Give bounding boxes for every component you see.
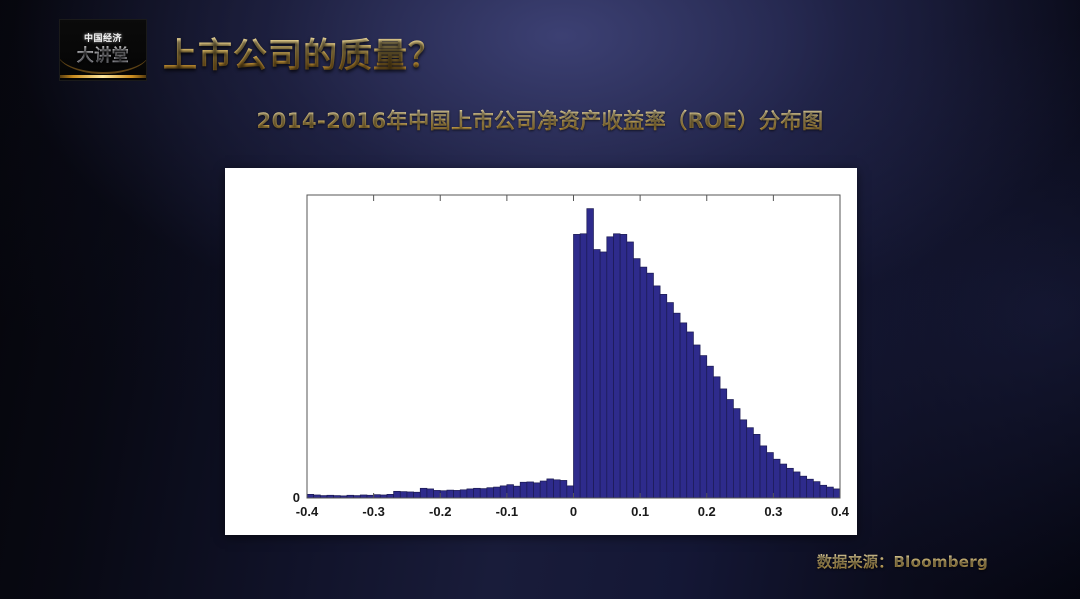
x-tick-label: -0.1 <box>496 504 518 519</box>
slide-headline: 上市公司的质量？ <box>163 28 443 77</box>
histogram-bar <box>587 209 594 498</box>
histogram-bar <box>780 464 787 498</box>
histogram-bar <box>494 487 501 498</box>
slide-canvas: 中国经济 大讲堂 上市公司的质量？ 2014-2016年中国上市公司净资产收益率… <box>0 0 1080 599</box>
histogram-bar <box>700 356 707 498</box>
histogram-bar <box>407 492 414 498</box>
histogram-bar <box>800 476 807 498</box>
histogram-bar <box>540 481 547 498</box>
x-tick-label: -0.2 <box>429 504 451 519</box>
histogram-bar <box>787 468 794 498</box>
histogram-bar <box>680 323 687 498</box>
x-tick-label: 0.2 <box>698 504 716 519</box>
histogram-bar <box>434 490 441 498</box>
histogram-bar <box>414 492 421 498</box>
x-tick-label: 0.1 <box>631 504 649 519</box>
histogram-bar <box>740 420 747 498</box>
chart-title: 2014-2016年中国上市公司净资产收益率（ROE）分布图 <box>0 105 1080 135</box>
x-tick-label: 0.3 <box>764 504 782 519</box>
histogram-bar <box>733 409 740 498</box>
histogram-bar <box>827 487 834 498</box>
histogram-bar <box>647 273 654 498</box>
histogram-bar <box>547 479 554 498</box>
histogram-bar <box>633 259 640 498</box>
histogram-bar <box>793 472 800 498</box>
histogram-bar <box>554 480 561 498</box>
histogram-plot: -0.4-0.3-0.2-0.100.10.20.30.40 <box>225 168 857 535</box>
histogram-bar <box>447 490 454 498</box>
histogram-bars <box>307 209 840 498</box>
histogram-bar <box>767 453 774 498</box>
histogram-bar <box>480 489 487 498</box>
histogram-bar <box>613 234 620 498</box>
histogram-bar <box>307 494 314 498</box>
histogram-bar <box>707 366 714 498</box>
histogram-bar <box>507 485 514 498</box>
logo-arc-icon <box>59 49 147 78</box>
histogram-bar <box>620 234 627 498</box>
y-axis-labels: 0 <box>293 490 300 505</box>
histogram-bar <box>454 490 461 498</box>
histogram-bar <box>660 294 667 498</box>
histogram-bar <box>394 491 401 498</box>
histogram-bar <box>693 345 700 498</box>
histogram-bar <box>673 313 680 498</box>
histogram-bar <box>593 250 600 498</box>
histogram-bar <box>720 389 727 498</box>
histogram-bar <box>640 267 647 498</box>
histogram-bar <box>474 488 481 498</box>
histogram-bar <box>560 480 567 498</box>
histogram-bar <box>514 486 521 498</box>
histogram-bar <box>807 479 814 498</box>
histogram-bar <box>667 303 674 498</box>
histogram-bar <box>420 488 427 498</box>
histogram-bar <box>653 286 660 498</box>
histogram-bar <box>833 489 840 498</box>
source-note: 数据来源：Bloomberg <box>817 551 988 572</box>
histogram-bar <box>534 483 541 498</box>
histogram-bar <box>760 446 767 498</box>
histogram-bar <box>600 252 607 498</box>
histogram-bar <box>627 242 634 498</box>
histogram-bar <box>607 237 614 498</box>
histogram-bar <box>713 377 720 498</box>
histogram-bar <box>753 434 760 498</box>
y-tick-label: 0 <box>293 490 300 505</box>
x-tick-label: 0 <box>570 504 577 519</box>
histogram-bar <box>467 489 474 498</box>
histogram-bar <box>427 489 434 498</box>
program-logo: 中国经济 大讲堂 <box>59 19 147 81</box>
histogram-bar <box>520 482 527 498</box>
histogram-bar <box>747 428 754 498</box>
histogram-bar <box>500 486 507 498</box>
histogram-svg: -0.4-0.3-0.2-0.100.10.20.30.40 <box>225 168 857 535</box>
histogram-bar <box>574 234 581 498</box>
x-tick-label: 0.4 <box>831 504 850 519</box>
histogram-bar <box>773 459 780 498</box>
x-tick-label: -0.4 <box>296 504 319 519</box>
x-tick-label: -0.3 <box>362 504 384 519</box>
histogram-bar <box>687 332 694 498</box>
histogram-bar <box>727 400 734 498</box>
histogram-bar <box>487 488 494 498</box>
histogram-bar <box>527 482 534 498</box>
histogram-bar <box>440 491 447 498</box>
histogram-bar <box>567 486 574 498</box>
histogram-bar <box>820 485 827 498</box>
histogram-bar <box>813 482 820 498</box>
histogram-bar <box>387 494 394 498</box>
chart-panel: -0.4-0.3-0.2-0.100.10.20.30.40 <box>225 168 857 535</box>
histogram-bar <box>400 492 407 498</box>
histogram-bar <box>580 234 587 498</box>
histogram-bar <box>460 490 467 498</box>
